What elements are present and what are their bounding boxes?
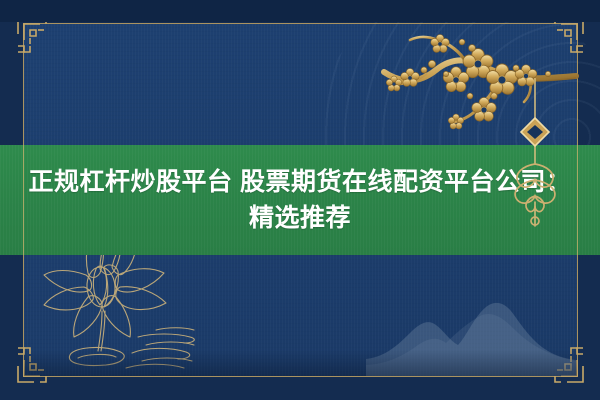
headline-line-1: 正规杠杆炒股平台 股票期货在线配资平台公司： <box>29 164 572 200</box>
banner-image: 正规杠杆炒股平台 股票期货在线配资平台公司： 精选推荐 <box>0 0 600 400</box>
headline-band: 正规杠杆炒股平台 股票期货在线配资平台公司： 精选推荐 <box>0 145 600 255</box>
headline-line-2: 精选推荐 <box>249 200 351 236</box>
